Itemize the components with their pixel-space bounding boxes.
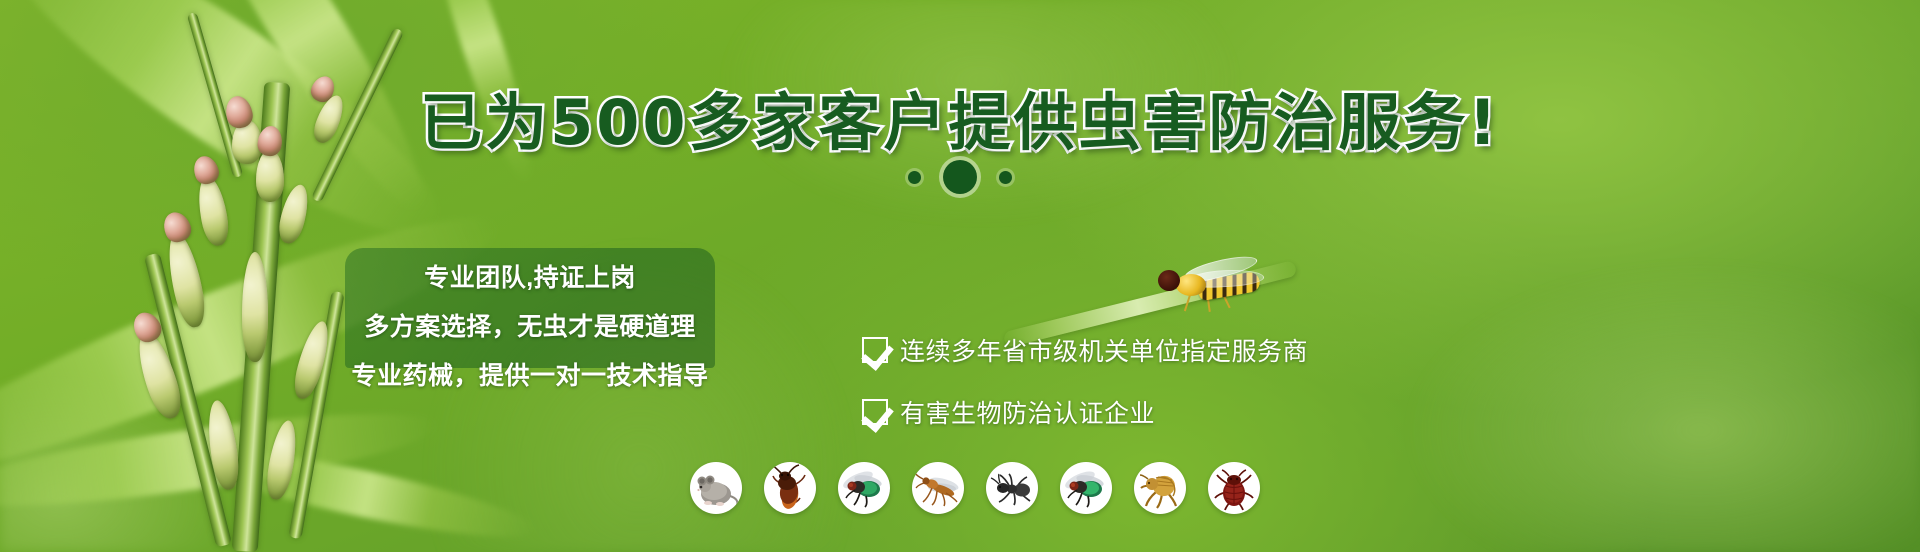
checklist-item: 连续多年省市级机关单位指定服务商 [862,332,1308,368]
pest-circle-blowfly[interactable]: 绿头苍蝇 [1060,462,1112,514]
checkbox-checked-icon [862,399,888,425]
pest-circle-mouse[interactable]: 鼠 [690,462,742,514]
pest-circle-cockroach[interactable]: 蟑螂 [764,462,816,514]
blowfly-icon [1060,462,1112,514]
pest-circle-ant[interactable]: 蚂蚁 [986,462,1038,514]
credentials-checklist: 连续多年省市级机关单位指定服务商 有害生物防治认证企业 [862,332,1308,430]
pest-circle-fly[interactable]: 苍蝇 [838,462,890,514]
fly-icon [838,462,890,514]
feature-text-lines: 专业团队,持证上岗 多方案选择，无虫才是硬道理 专业药械，提供一对一技术指导 [330,258,730,392]
checkbox-checked-icon [862,337,888,363]
mouse-icon [690,462,742,514]
checklist-item-label: 连续多年省市级机关单位指定服务商 [900,332,1308,368]
feature-line-2: 多方案选择，无虫才是硬道理 [364,307,696,343]
cockroach-icon [764,462,816,514]
bedbug-icon [1208,462,1260,514]
pest-circle-flea[interactable]: 跳蚤 [1134,462,1186,514]
decorative-dot-row [0,160,1920,194]
checklist-item-label: 有害生物防治认证企业 [900,394,1155,430]
feature-line-1: 专业团队,持证上岗 [424,258,635,294]
decor-dot-small-icon [908,171,921,184]
feature-line-3: 专业药械，提供一对一技术指导 [351,356,708,392]
ant-icon [986,462,1038,514]
mosquito-icon [912,462,964,514]
decor-dot-large-icon [943,160,977,194]
banner-headline-text: 已为500多家客户提供虫害防治服务! [420,86,1500,159]
pest-circle-bedbug[interactable]: 臭虫 [1208,462,1260,514]
promo-banner: 已为500多家客户提供虫害防治服务! 专业团队,持证上岗 多方案选择，无虫才是硬… [0,0,1920,552]
plant-bud [263,419,301,502]
decor-dot-small-icon [999,171,1012,184]
hoverfly-icon [1150,258,1280,318]
hoverfly-on-twig-decoration [1000,262,1300,342]
plant-bud [159,208,194,246]
pest-icon-row: 鼠 蟑螂 [690,462,1260,514]
banner-headline: 已为500多家客户提供虫害防治服务! [0,72,1920,162]
flea-icon [1134,462,1186,514]
pest-circle-mosquito[interactable]: 蚊 [912,462,964,514]
checklist-item: 有害生物防治认证企业 [862,394,1308,430]
